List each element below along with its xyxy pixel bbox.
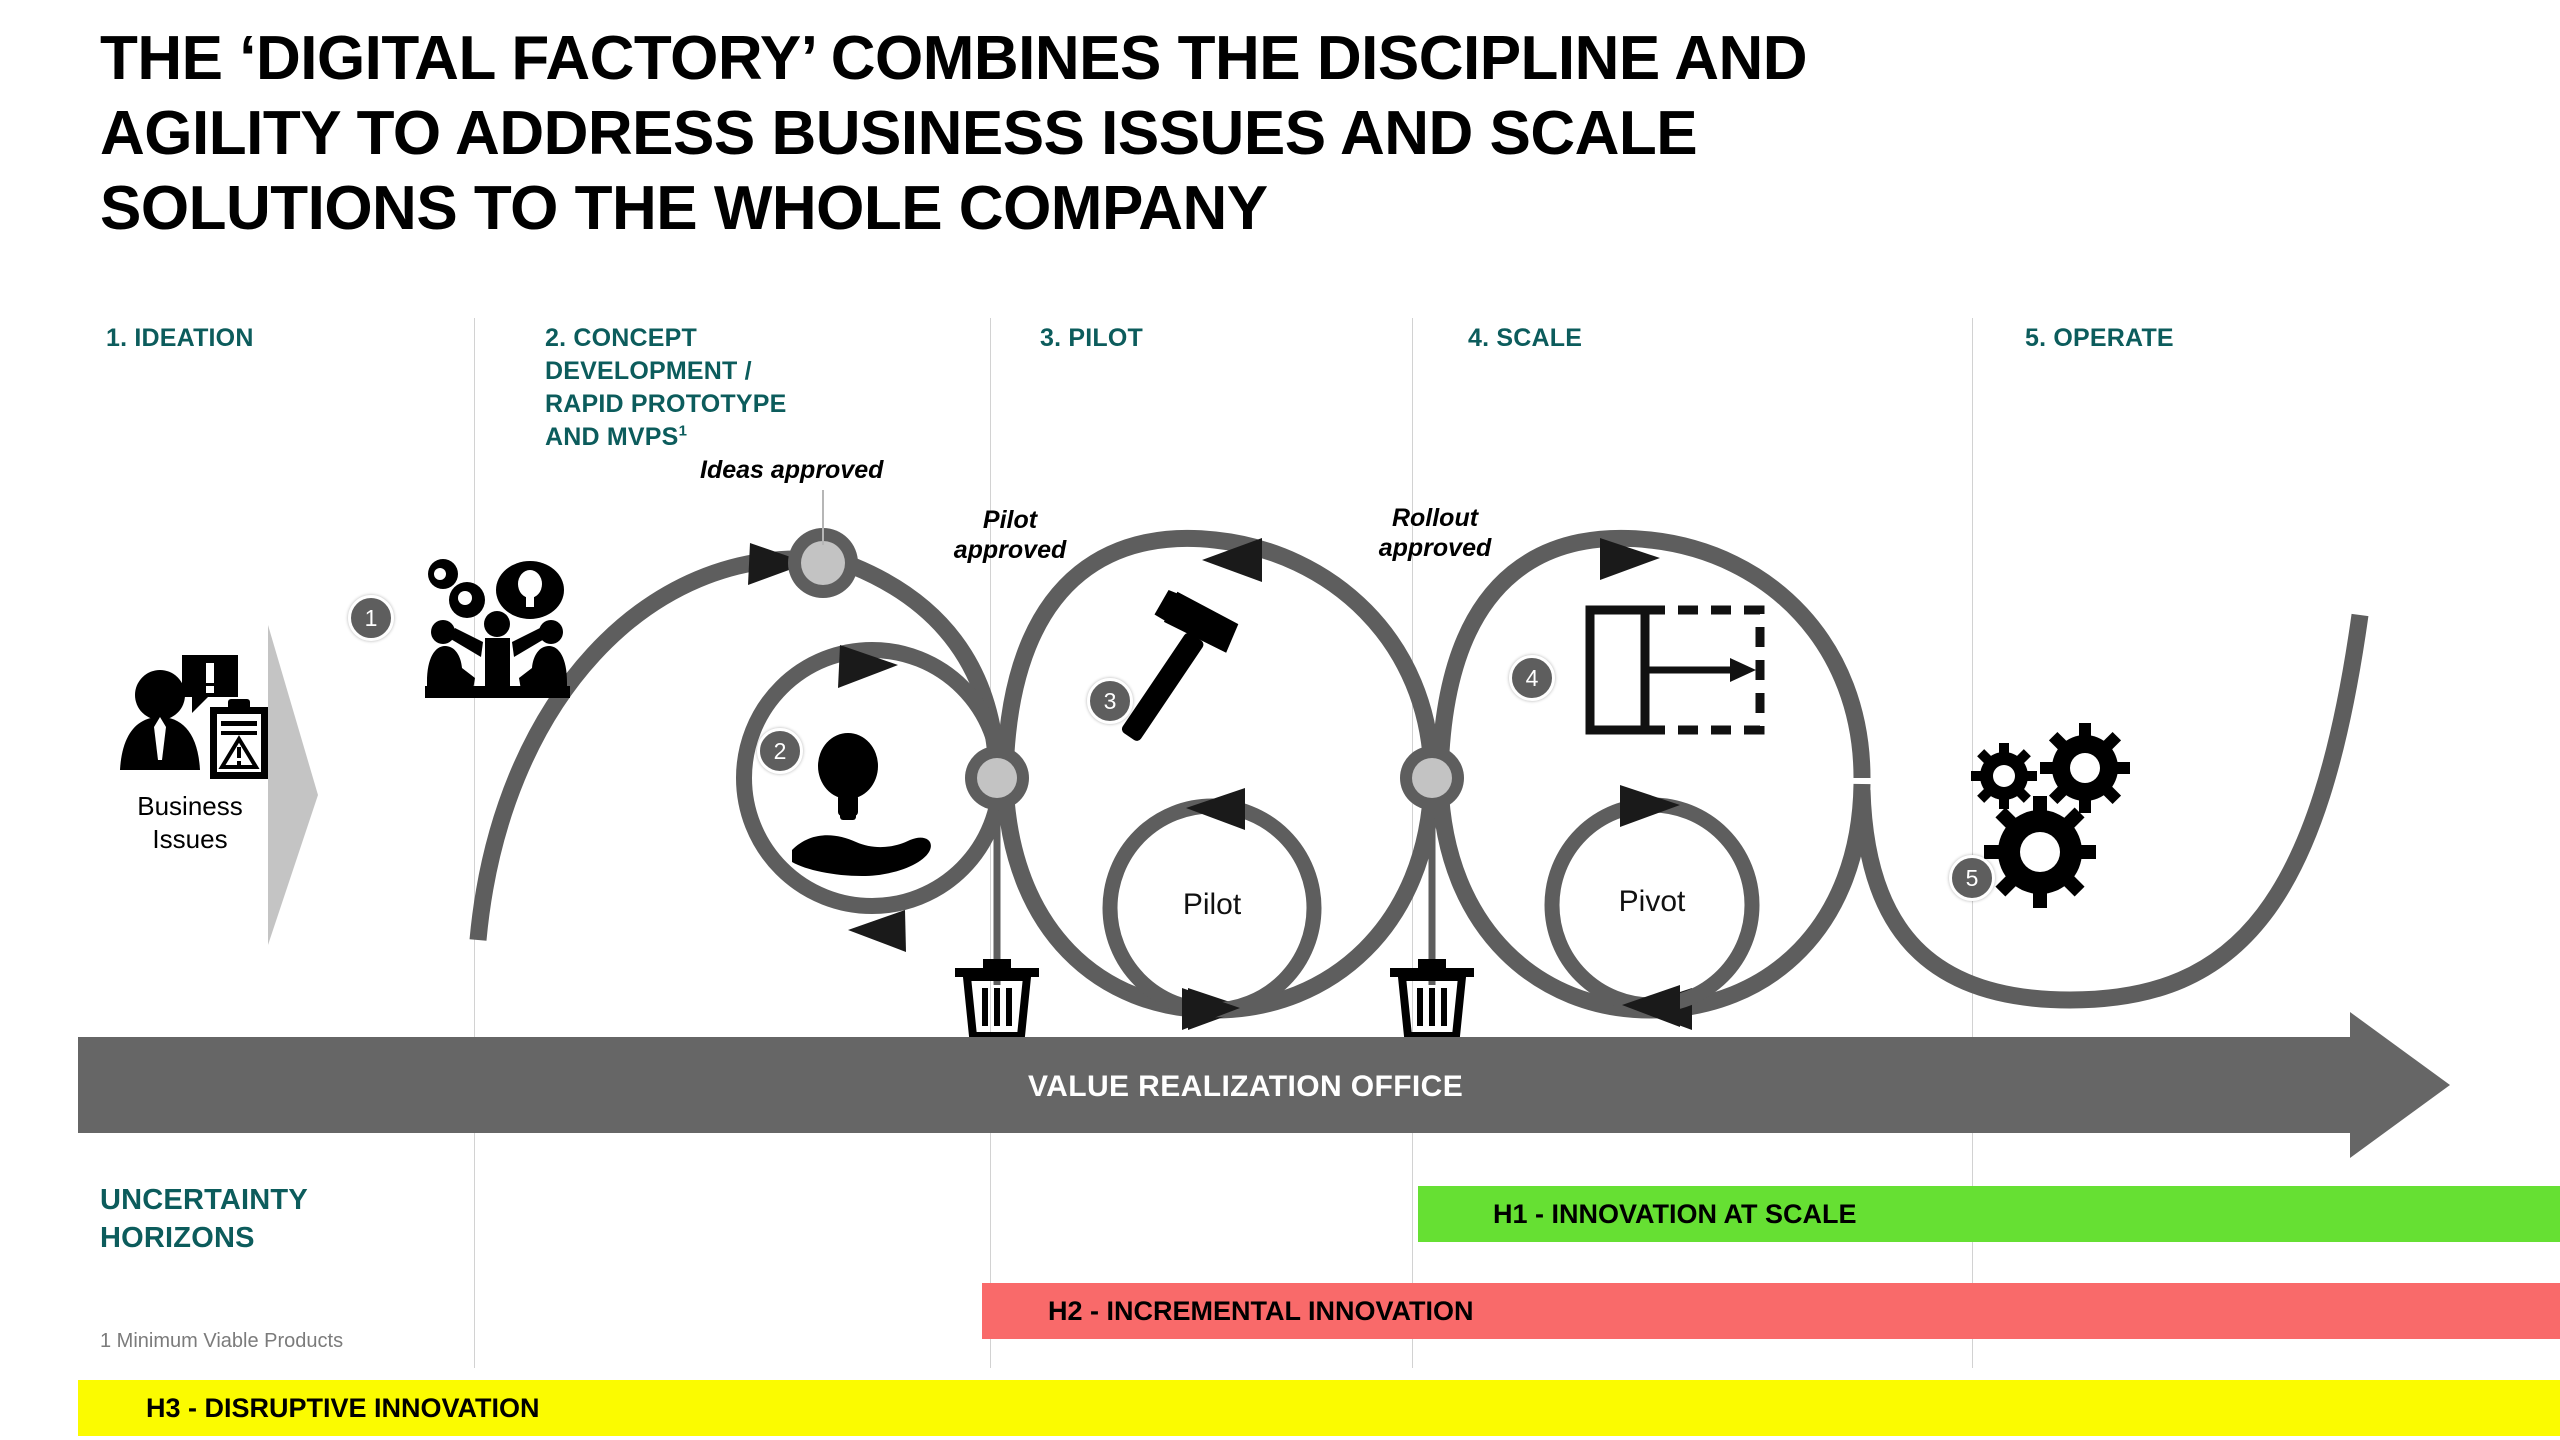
- step-badge-3[interactable]: 3: [1087, 678, 1133, 724]
- gate-node-pilot-approved: [965, 746, 1029, 810]
- arrowhead-ideation-rise: [748, 543, 808, 585]
- gate-node-ideas-approved: [788, 528, 858, 598]
- arrowhead-scale-arc-top: [1600, 538, 1660, 580]
- loop-label-pivot: Pivot: [1572, 885, 1732, 919]
- arrowhead-pilot-loop-top: [1186, 788, 1245, 830]
- gate-label-ideas-approved: Ideas approved: [700, 455, 950, 485]
- arrowhead-scale-arc-bottom: [1632, 988, 1692, 1030]
- column-divider-3: [1412, 318, 1413, 1368]
- phase-header-operate: 5. OPERATE: [2025, 322, 2174, 355]
- loop-label-pilot: Pilot: [1132, 888, 1292, 922]
- value-realization-office-label: VALUE REALIZATION OFFICE: [1028, 1070, 1463, 1104]
- phase-header-concept: 2. CONCEPT DEVELOPMENT / RAPID PROTOTYPE…: [545, 322, 905, 454]
- step-badge-1[interactable]: 1: [348, 595, 394, 641]
- arrowhead-pilot-arc-bottom: [1188, 988, 1248, 1030]
- horizon-bar-h2-label: H2 - INCREMENTAL INNOVATION: [1048, 1296, 1474, 1327]
- step-badge-2[interactable]: 2: [757, 728, 803, 774]
- gate-label-pilot-approved: Pilot approved: [900, 505, 1120, 565]
- phase-label-concept-line-1: 2. CONCEPT: [545, 322, 905, 355]
- step-badge-5[interactable]: 5: [1949, 855, 1995, 901]
- page-title: THE ‘DIGITAL FACTORY’ COMBINES THE DISCI…: [100, 28, 2520, 253]
- arrowhead-pilot-arc-top: [1202, 538, 1262, 582]
- business-issues-wedge: [268, 625, 318, 945]
- horizon-bar-h2[interactable]: H2 - INCREMENTAL INNOVATION: [982, 1283, 2560, 1339]
- phase-label-ideation: 1. IDEATION: [106, 324, 254, 352]
- path-scale-arc: [1440, 538, 1862, 778]
- phase-label-concept-line-3: RAPID PROTOTYPE: [545, 388, 905, 421]
- phase-header-ideation: 1. IDEATION: [106, 322, 254, 355]
- hand-holding-lightbulb-icon: [792, 733, 931, 876]
- hammer-icon: [1082, 577, 1245, 752]
- business-person-issue-icon: [120, 655, 268, 779]
- horizon-bar-h3[interactable]: H3 - DISRUPTIVE INNOVATION: [78, 1380, 2560, 1436]
- phase-label-concept-footnote-marker: 1: [679, 423, 688, 440]
- gate-label-rollout-approved: Rollout approved: [1320, 503, 1550, 563]
- path-pilot-arc: [1005, 538, 1432, 775]
- phase-label-scale: 4. SCALE: [1468, 324, 1582, 352]
- page-title-line-2: AGILITY TO ADDRESS BUSINESS ISSUES AND S…: [100, 103, 2520, 165]
- phase-label-concept-line-4: AND MVPS: [545, 423, 679, 451]
- horizon-bar-h1[interactable]: H1 - INNOVATION AT SCALE: [1418, 1186, 2560, 1242]
- gate-node-rollout-approved: [1400, 746, 1464, 810]
- business-issues-label: Business Issues: [90, 790, 290, 855]
- trash-can-icon-pilot-gate: [955, 959, 1039, 1036]
- phase-label-concept-line-2: DEVELOPMENT /: [545, 355, 905, 388]
- column-divider-2: [990, 318, 991, 1368]
- path-operate-rise: [1862, 615, 2360, 1000]
- step-badge-4[interactable]: 4: [1509, 655, 1555, 701]
- horizon-bar-h1-label: H1 - INNOVATION AT SCALE: [1493, 1199, 1857, 1230]
- loop-concept-circle: [744, 650, 1000, 906]
- arrowhead-pilot-loop-bottom: [1182, 988, 1240, 1030]
- arrowhead-pivot-loop-top: [1620, 785, 1680, 827]
- uncertainty-horizons-title: UNCERTAINTY HORIZONS: [100, 1182, 308, 1257]
- arrowhead-concept-loop-top: [838, 645, 898, 688]
- page-title-line-1: THE ‘DIGITAL FACTORY’ COMBINES THE DISCI…: [100, 28, 2520, 90]
- path-gate1-to-node1: [853, 566, 997, 775]
- scale-expand-icon: [1590, 610, 1760, 730]
- horizon-bar-h3-label: H3 - DISRUPTIVE INNOVATION: [146, 1393, 540, 1424]
- phase-header-pilot: 3. PILOT: [1040, 322, 1143, 355]
- phase-label-operate: 5. OPERATE: [2025, 324, 2174, 352]
- page-title-line-3: SOLUTIONS TO THE WHOLE COMPANY: [100, 178, 2520, 240]
- arrowhead-pivot-loop-bottom: [1622, 985, 1680, 1027]
- slide-canvas: THE ‘DIGITAL FACTORY’ COMBINES THE DISCI…: [0, 0, 2560, 1440]
- trash-can-icon-rollout-gate: [1390, 959, 1474, 1036]
- phase-label-pilot: 3. PILOT: [1040, 324, 1143, 352]
- ideation-team-lightbulb-icon: [425, 559, 570, 698]
- arrowhead-concept-loop-bottom: [848, 910, 906, 952]
- footnote-mvp: 1 Minimum Viable Products: [100, 1330, 343, 1353]
- column-divider-1: [474, 318, 475, 1368]
- phase-header-scale: 4. SCALE: [1468, 322, 1582, 355]
